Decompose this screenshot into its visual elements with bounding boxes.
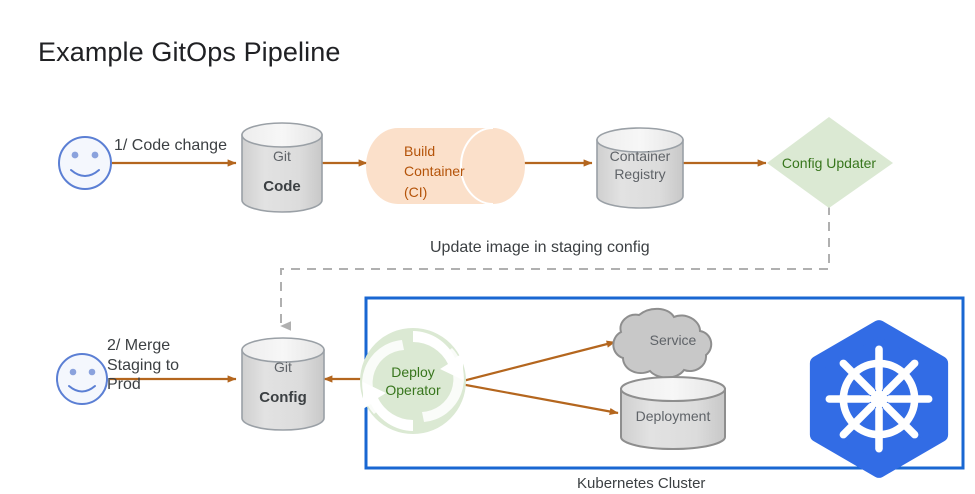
smiley-eye-left: [72, 152, 79, 159]
edge-deploy-operator-to-service: [455, 342, 615, 383]
kubernetes-logo-icon: [817, 328, 940, 471]
kubernetes-cluster-caption: Kubernetes Cluster: [577, 475, 705, 493]
edge-label-code-change: 1/ Code change: [114, 136, 227, 156]
node-git-code: [242, 123, 322, 212]
edge-label-update-image: Update image in staging config: [430, 238, 650, 258]
node-deployment: [621, 377, 725, 449]
smiley-eye-right: [89, 369, 96, 376]
node-deploy-operator: [360, 328, 466, 434]
actor-top: [59, 137, 111, 189]
edge-deploy-operator-to-deployment: [455, 383, 618, 413]
edge-config-updater-to-git-config: [281, 206, 829, 326]
node-container-registry: [597, 128, 683, 208]
actor-bottom: [57, 354, 107, 404]
diagram-canvas: Example GitOps Pipeline: [0, 0, 975, 494]
edge-label-merge-staging-to-prod: 2/ Merge Staging to Prod: [107, 336, 179, 395]
smiley-eye-right: [92, 152, 99, 159]
node-config-updater: [767, 117, 893, 208]
node-service: [613, 309, 711, 378]
smiley-eye-left: [70, 369, 77, 376]
node-git-config: [242, 338, 324, 430]
node-build-container: [366, 128, 525, 204]
